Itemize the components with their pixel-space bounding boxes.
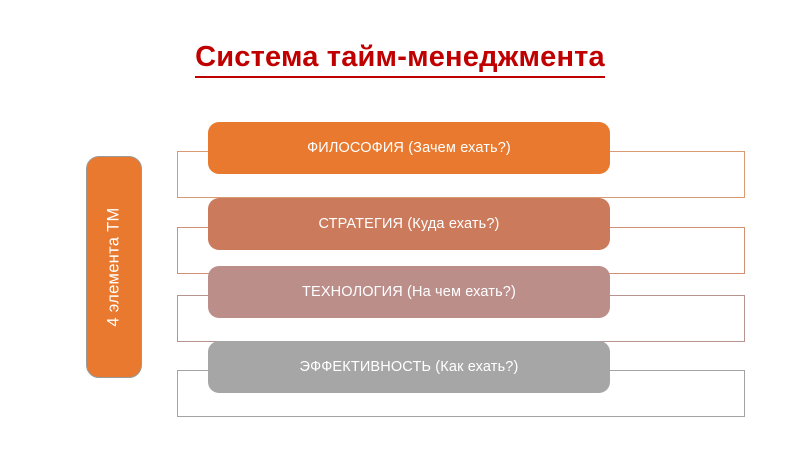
element-pill-4[interactable]: ЭФФЕКТИВНОСТЬ (Как ехать?) bbox=[208, 341, 610, 393]
element-row-strategy: СТРАТЕГИЯ (Куда ехать?) bbox=[0, 198, 800, 276]
element-label-4: ЭФФЕКТИВНОСТЬ (Как ехать?) bbox=[300, 359, 519, 375]
page-title: Система тайм-менеджмента bbox=[0, 42, 800, 78]
element-pill-2[interactable]: СТРАТЕГИЯ (Куда ехать?) bbox=[208, 198, 610, 250]
element-label-2: СТРАТЕГИЯ (Куда ехать?) bbox=[318, 216, 499, 232]
element-row-philosophy: ФИЛОСОФИЯ (Зачем ехать?) bbox=[0, 122, 800, 200]
element-pill-1[interactable]: ФИЛОСОФИЯ (Зачем ехать?) bbox=[208, 122, 610, 174]
element-row-technology: ТЕХНОЛОГИЯ (На чем ехать?) bbox=[0, 266, 800, 344]
element-label-3: ТЕХНОЛОГИЯ (На чем ехать?) bbox=[302, 284, 516, 300]
page-title-text: Система тайм-менеджмента bbox=[195, 42, 605, 78]
element-label-1: ФИЛОСОФИЯ (Зачем ехать?) bbox=[307, 140, 511, 156]
element-pill-3[interactable]: ТЕХНОЛОГИЯ (На чем ехать?) bbox=[208, 266, 610, 318]
element-row-effectiveness: ЭФФЕКТИВНОСТЬ (Как ехать?) bbox=[0, 341, 800, 419]
